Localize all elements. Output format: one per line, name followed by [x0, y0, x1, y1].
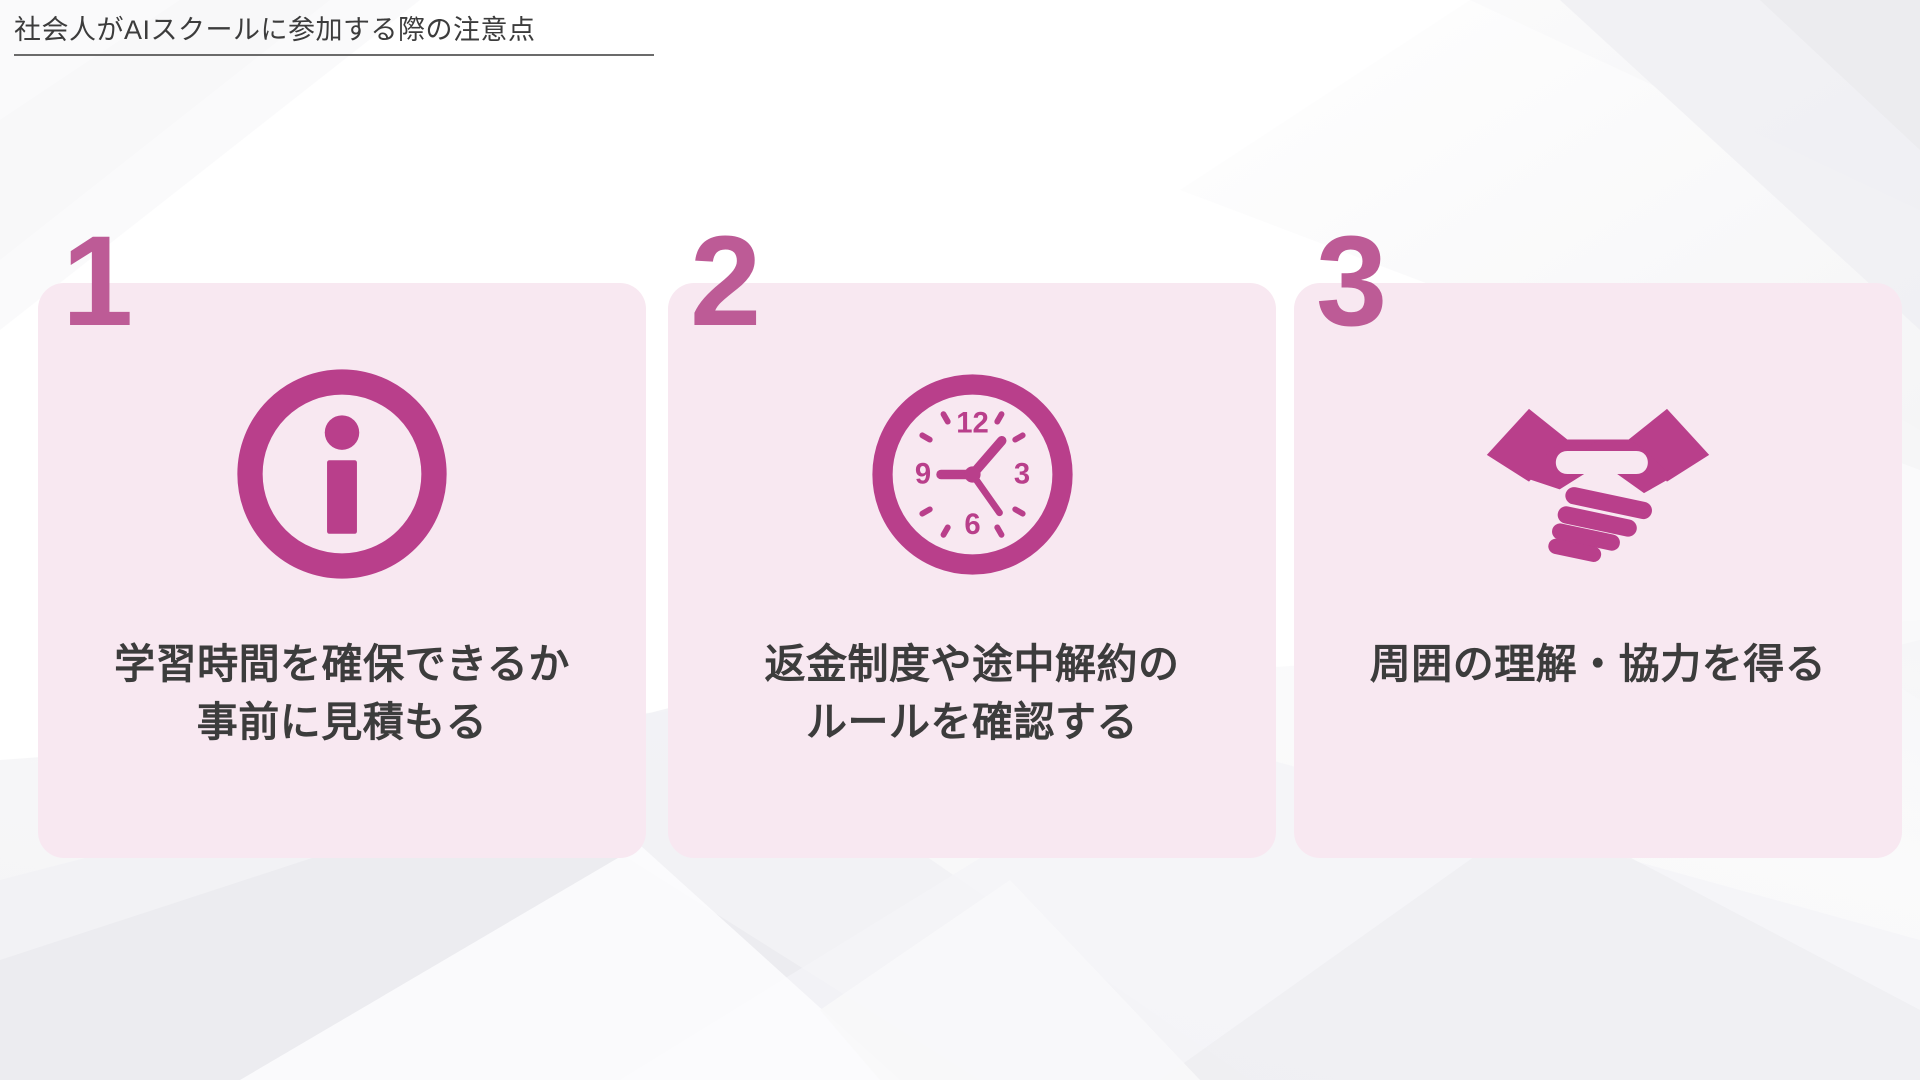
clock-icon: 12 3 6 9 [860, 362, 1085, 587]
handshake-icon [1483, 374, 1713, 574]
cards-row: 学習時間を確保できるか 事前に見積もる 12 3 6 9 [0, 0, 1920, 1080]
card-1[interactable]: 学習時間を確保できるか 事前に見積もる [38, 283, 646, 858]
title-underline [14, 54, 654, 56]
card-2-number: 2 [690, 218, 759, 346]
card-3[interactable]: 周囲の理解・協力を得る [1294, 283, 1902, 858]
card-3-line-1: 周囲の理解・協力を得る [1320, 635, 1876, 693]
card-2-label: 返金制度や途中解約の ルールを確認する [694, 635, 1250, 751]
svg-text:12: 12 [956, 407, 989, 439]
card-2[interactable]: 12 3 6 9 [668, 283, 1276, 858]
svg-text:9: 9 [914, 458, 930, 490]
card-2-line-2: ルールを確認する [694, 693, 1250, 751]
card-2-line-1: 返金制度や途中解約の [694, 635, 1250, 693]
card-1-label: 学習時間を確保できるか 事前に見積もる [64, 635, 620, 751]
card-1-number: 1 [62, 218, 131, 346]
card-3-icon-area [1294, 339, 1902, 609]
info-circle-icon [227, 359, 457, 589]
card-1-icon-area [38, 339, 646, 609]
svg-text:6: 6 [964, 508, 980, 540]
svg-text:3: 3 [1013, 458, 1029, 490]
card-3-number: 3 [1316, 218, 1385, 346]
card-2-icon-area: 12 3 6 9 [668, 339, 1276, 609]
page-title: 社会人がAIスクールに参加する際の注意点 [14, 14, 654, 48]
card-1-line-2: 事前に見積もる [64, 693, 620, 751]
card-3-label: 周囲の理解・協力を得る [1320, 635, 1876, 693]
slide-title-block: 社会人がAIスクールに参加する際の注意点 [14, 14, 654, 56]
card-1-line-1: 学習時間を確保できるか [64, 635, 620, 693]
